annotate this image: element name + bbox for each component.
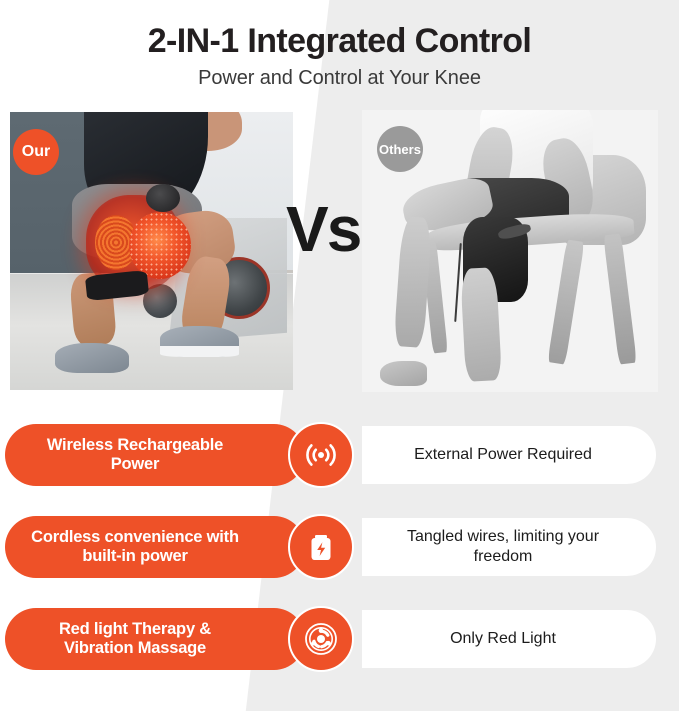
wireless-signal-icon (288, 422, 354, 488)
our-badge-label: Our (22, 143, 50, 161)
athlete-shoe-left (55, 343, 129, 374)
others-badge-label: Others (379, 142, 421, 157)
others-feature-label: External Power Required (414, 445, 592, 465)
brace-control-knob (146, 184, 180, 212)
vibration-massage-icon (288, 606, 354, 672)
versus-label: Vs (286, 197, 360, 261)
our-feature-pill: Wireless Rechargeable Power (5, 424, 305, 486)
our-feature-label: Red light Therapy & Vibration Massage (23, 620, 247, 659)
our-feature-label: Wireless Rechargeable Power (23, 436, 247, 475)
others-feature-label: Only Red Light (450, 629, 556, 649)
our-feature-pill: Red light Therapy & Vibration Massage (5, 608, 305, 670)
others-feature-pill: External Power Required (362, 426, 656, 484)
comparison-row: Cordless convenience with built-in power… (0, 516, 679, 578)
our-badge: Our (13, 129, 59, 175)
comparison-row: Wireless Rechargeable Power External Pow… (0, 424, 679, 486)
person-shin-near (460, 267, 501, 382)
others-feature-pill: Tangled wires, limiting your freedom (362, 518, 656, 576)
others-feature-pill: Only Red Light (362, 610, 656, 668)
led-dot-array (129, 212, 191, 279)
athlete-shoe-right (160, 326, 239, 357)
our-feature-pill: Cordless convenience with built-in power (5, 516, 305, 578)
person-foot (380, 361, 427, 386)
page-subtitle: Power and Control at Your Knee (0, 67, 679, 90)
others-feature-label: Tangled wires, limiting your freedom (376, 527, 630, 568)
header: 2-IN-1 Integrated Control Power and Cont… (0, 22, 679, 90)
our-feature-label: Cordless convenience with built-in power (23, 528, 247, 567)
comparison-infographic: 2-IN-1 Integrated Control Power and Cont… (0, 0, 679, 711)
comparison-rows: Wireless Rechargeable Power External Pow… (0, 424, 679, 700)
comparison-row: Red light Therapy & Vibration Massage On… (0, 608, 679, 670)
page-title: 2-IN-1 Integrated Control (0, 22, 679, 60)
others-badge: Others (377, 126, 423, 172)
battery-charging-icon (288, 514, 354, 580)
